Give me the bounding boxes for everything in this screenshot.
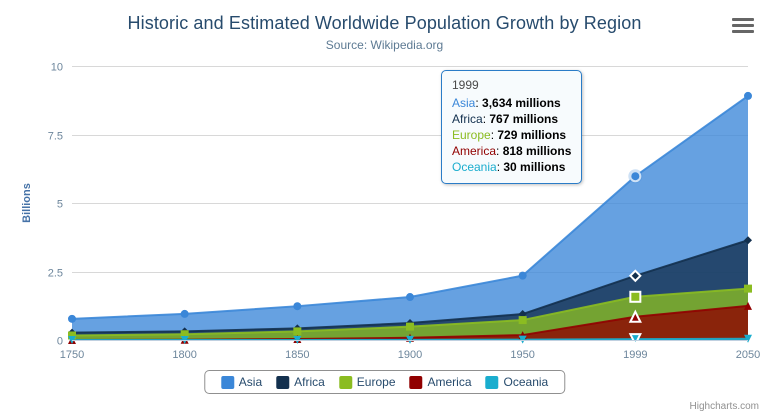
legend-item-label: Asia (239, 375, 262, 389)
data-point-europe-1950[interactable] (519, 316, 527, 324)
y-axis-title: Billions (21, 183, 33, 223)
legend-item-america[interactable]: America (403, 375, 479, 389)
legend-item-label: Africa (294, 375, 325, 389)
data-point-asia-1950[interactable] (519, 272, 527, 280)
legend-item-africa[interactable]: Africa (269, 375, 332, 389)
data-point-asia-1750[interactable] (68, 315, 76, 323)
x-axis-tick-label: 1900 (398, 349, 422, 361)
x-axis-tick-label: 1800 (172, 349, 196, 361)
hover-halo (628, 169, 642, 183)
data-point-europe-1850[interactable] (293, 327, 301, 335)
legend-item-label: America (428, 375, 472, 389)
legend-swatch-icon (276, 376, 289, 389)
legend-item-label: Oceania (504, 375, 549, 389)
legend-item-label: Europe (357, 375, 396, 389)
x-axis-tick-label: 1950 (510, 349, 534, 361)
data-point-oceania-1999[interactable] (630, 334, 640, 344)
y-axis-tick-label: 2.5 (48, 268, 63, 280)
x-axis-tick-label: 1750 (60, 349, 84, 361)
legend-item-asia[interactable]: Asia (214, 375, 269, 389)
y-axis-tick-label: 5 (57, 199, 63, 211)
y-axis-tick-label: 0 (57, 336, 63, 348)
legend-swatch-icon (221, 376, 234, 389)
y-axis-tick-label: 7.5 (48, 131, 63, 143)
data-point-asia-1800[interactable] (181, 310, 189, 318)
data-point-europe-1999[interactable] (630, 292, 640, 302)
legend-swatch-icon (339, 376, 352, 389)
x-axis-tick-label: 1999 (623, 349, 647, 361)
legend-swatch-icon (486, 376, 499, 389)
plot-area: 02.557.510Billions1750180018501900195019… (0, 0, 769, 416)
highcharts-container: Historic and Estimated Worldwide Populat… (0, 0, 769, 416)
data-point-europe-1900[interactable] (406, 323, 414, 331)
x-axis-tick-label: 1850 (285, 349, 309, 361)
legend-swatch-icon (410, 376, 423, 389)
credits-label[interactable]: Highcharts.com (690, 401, 759, 412)
y-axis-tick-label: 10 (51, 62, 63, 74)
legend-item-europe[interactable]: Europe (332, 375, 403, 389)
chart-legend: AsiaAfricaEuropeAmericaOceania (204, 370, 565, 394)
x-axis-tick-label: 2050 (736, 349, 760, 361)
data-point-asia-1900[interactable] (406, 293, 414, 301)
data-point-asia-2050[interactable] (744, 92, 752, 100)
legend-item-oceania[interactable]: Oceania (479, 375, 556, 389)
data-point-asia-1850[interactable] (293, 302, 301, 310)
data-point-europe-2050[interactable] (744, 285, 752, 293)
